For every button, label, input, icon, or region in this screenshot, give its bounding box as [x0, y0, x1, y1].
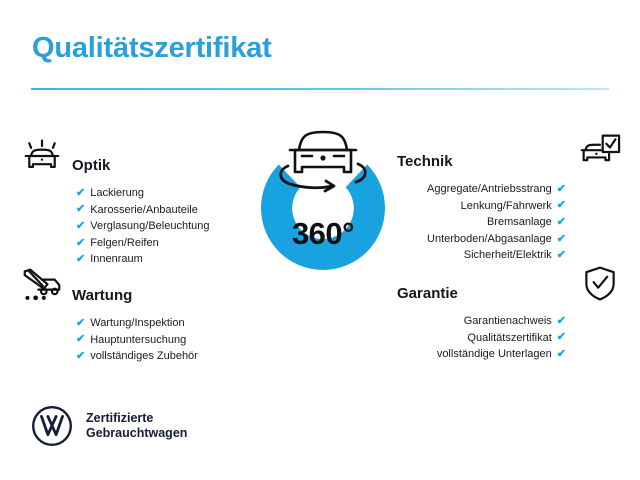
- list-item: ✔Verglasung/Beleuchtung: [76, 218, 235, 235]
- check-icon: ✔: [76, 334, 85, 345]
- car-shine-icon: [20, 136, 64, 176]
- section-list-wartung: ✔Wartung/Inspektion ✔Hauptuntersuchung ✔…: [20, 315, 235, 365]
- list-item: ✔Felgen/Reifen: [76, 235, 235, 252]
- section-title-wrap-technik: Technik: [397, 152, 570, 172]
- check-icon: ✔: [76, 188, 85, 199]
- list-item: ✔vollständige Unterlagen: [397, 346, 566, 363]
- list-item: ✔Lenkung/Fahrwerk: [397, 198, 566, 215]
- section-garantie: Garantie ✔Garantienachweis ✔Qualitätszer…: [397, 260, 622, 363]
- car-checkbox-icon: [578, 132, 622, 172]
- page-title: Qualitätszertifikat: [32, 32, 272, 65]
- list-item-label: Felgen/Reifen: [90, 235, 159, 252]
- footer-brand: Zertifizierte Gebrauchtwagen: [30, 404, 187, 448]
- section-optik: Optik ✔Lackierung ✔Karosserie/Anbauteile…: [20, 132, 235, 268]
- check-icon: ✔: [76, 204, 85, 215]
- check-icon: ✔: [76, 221, 85, 232]
- check-icon: ✔: [557, 349, 566, 360]
- list-item-label: Lackierung: [90, 185, 144, 202]
- section-header-optik: Optik: [20, 132, 235, 176]
- list-item: ✔Unterboden/Abgasanlage: [397, 231, 566, 248]
- section-title-optik: Optik: [72, 157, 110, 177]
- list-item: ✔Karosserie/Anbauteile: [76, 202, 235, 219]
- list-item-label: Verglasung/Beleuchtung: [90, 218, 209, 235]
- check-icon: ✔: [76, 318, 85, 329]
- list-item-label: Aggregate/Antriebsstrang: [427, 181, 552, 198]
- section-list-technik: ✔Aggregate/Antriebsstrang ✔Lenkung/Fahrw…: [397, 181, 622, 264]
- section-title-wrap-garantie: Garantie: [397, 284, 570, 304]
- section-title-wartung: Wartung: [72, 287, 132, 307]
- check-icon: ✔: [557, 200, 566, 211]
- list-item: ✔Lackierung: [76, 185, 235, 202]
- list-item: ✔Qualitätszertifikat: [397, 330, 566, 347]
- list-item-label: Qualitätszertifikat: [467, 330, 551, 347]
- list-item: ✔Wartung/Inspektion: [76, 315, 235, 332]
- check-icon: ✔: [76, 238, 85, 249]
- check-icon: ✔: [557, 234, 566, 245]
- list-item-label: Wartung/Inspektion: [90, 315, 184, 332]
- list-item-label: Unterboden/Abgasanlage: [427, 231, 552, 248]
- footer-line-2: Gebrauchtwagen: [86, 426, 187, 440]
- list-item-label: vollständige Unterlagen: [437, 346, 552, 363]
- check-icon: ✔: [557, 184, 566, 195]
- list-item: ✔vollständiges Zubehör: [76, 348, 235, 365]
- section-technik: Technik ✔Aggregate/Antriebsstrang ✔Lenku…: [397, 128, 622, 264]
- list-item: ✔Bremsanlage: [397, 214, 566, 231]
- title-divider: [31, 88, 609, 90]
- section-list-optik: ✔Lackierung ✔Karosserie/Anbauteile ✔Verg…: [20, 185, 235, 268]
- badge-degrees-label: 360°: [228, 216, 418, 252]
- check-icon: ✔: [557, 217, 566, 228]
- list-item: ✔Aggregate/Antriebsstrang: [397, 181, 566, 198]
- list-item-label: Garantienachweis: [464, 313, 552, 330]
- check-icon: ✔: [557, 316, 566, 327]
- section-title-wrap-wartung: Wartung: [72, 286, 235, 306]
- list-item: ✔Garantienachweis: [397, 313, 566, 330]
- service-pen-car-icon: [20, 266, 64, 306]
- section-wartung: Wartung ✔Wartung/Inspektion ✔Hauptunters…: [20, 262, 235, 365]
- section-header-wartung: Wartung: [20, 262, 235, 306]
- badge-360-gebrauchtwagen-check: Gebrauchtwagen-Check 360°: [228, 112, 418, 317]
- list-item-label: Lenkung/Fahrwerk: [461, 198, 552, 215]
- vw-logo-icon: [30, 404, 74, 448]
- list-item-label: Karosserie/Anbauteile: [90, 202, 198, 219]
- check-icon: ✔: [557, 332, 566, 343]
- section-header-technik: Technik: [397, 128, 622, 172]
- shield-check-icon: [578, 264, 622, 304]
- section-list-garantie: ✔Garantienachweis ✔Qualitätszertifikat ✔…: [397, 313, 622, 363]
- certificate-page: Qualitätszertifikat Optik ✔Lackierung ✔K…: [0, 0, 640, 480]
- badge-graphic: Gebrauchtwagen-Check: [228, 112, 418, 317]
- section-title-wrap-optik: Optik: [72, 156, 235, 176]
- check-icon: ✔: [76, 351, 85, 362]
- list-item-label: vollständiges Zubehör: [90, 348, 198, 365]
- list-item-label: Hauptuntersuchung: [90, 332, 186, 349]
- list-item-label: Bremsanlage: [487, 214, 552, 231]
- footer-brand-text: Zertifizierte Gebrauchtwagen: [86, 411, 187, 442]
- list-item: ✔Hauptuntersuchung: [76, 332, 235, 349]
- footer-line-1: Zertifizierte: [86, 411, 153, 425]
- section-header-garantie: Garantie: [397, 260, 622, 304]
